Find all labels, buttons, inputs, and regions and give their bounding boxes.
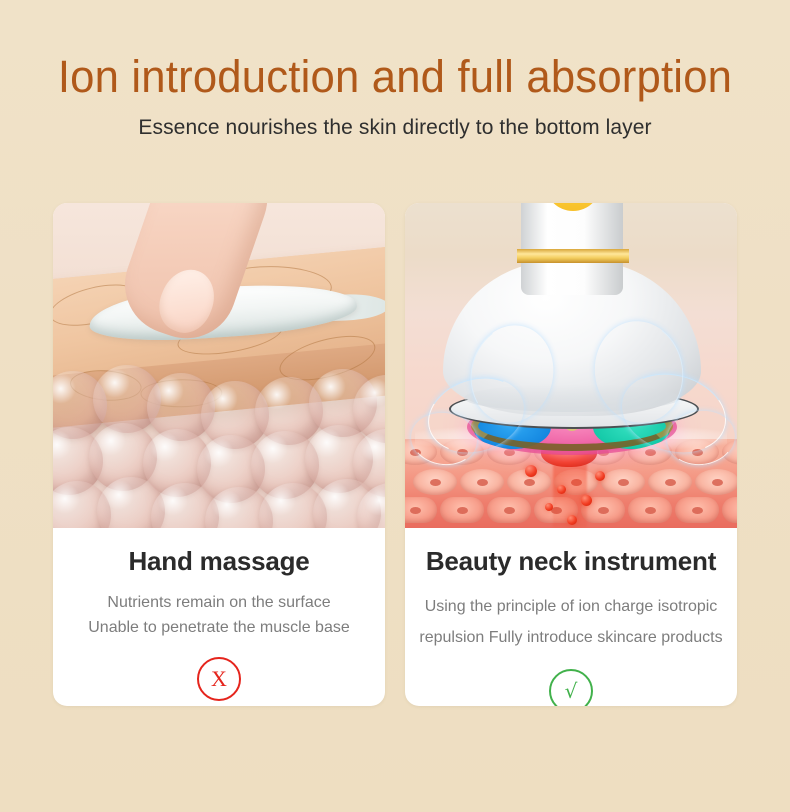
- skin-cell: [628, 497, 672, 523]
- skin-cell: [440, 497, 484, 523]
- page-subtitle: Essence nourishes the skin directly to t…: [0, 116, 790, 140]
- hand-massage-illustration: [53, 203, 385, 528]
- card-beauty-neck-instrument-body: Beauty neck instrument Using the princip…: [405, 528, 737, 706]
- skin-cell: [601, 469, 645, 495]
- skin-cell: [675, 497, 719, 523]
- skin-cell: [648, 469, 692, 495]
- check-icon: √: [549, 669, 593, 706]
- hand-massage-scene: [53, 203, 385, 528]
- beauty-device-illustration: [405, 203, 737, 528]
- beauty-device-scene: [405, 203, 737, 528]
- device-gold-band: [517, 249, 629, 263]
- skin-cell: [413, 469, 457, 495]
- essence-droplet: [581, 495, 592, 506]
- infographic-page: Ion introduction and full absorption Ess…: [0, 0, 790, 812]
- essence-droplet: [525, 465, 537, 477]
- skin-cell: [405, 497, 437, 523]
- skin-cell: [722, 497, 737, 523]
- cell-sphere-grid: [53, 371, 385, 528]
- card-hand-massage-body: Hand massage Nutrients remain on the sur…: [53, 528, 385, 706]
- essence-droplet: [567, 515, 577, 525]
- page-title: Ion introduction and full absorption: [12, 52, 778, 102]
- skin-cell: [695, 469, 737, 495]
- essence-droplet: [595, 471, 605, 481]
- card-title: Beauty neck instrument: [426, 546, 716, 577]
- skin-cell: [460, 469, 504, 495]
- card-title: Hand massage: [128, 546, 309, 577]
- card-description-line-2: Unable to penetrate the muscle base: [88, 616, 350, 641]
- card-hand-massage[interactable]: Hand massage Nutrients remain on the sur…: [53, 203, 385, 706]
- essence-droplet: [545, 503, 553, 511]
- card-description: Nutrients remain on the surface Unable t…: [88, 591, 350, 641]
- card-description: Using the principle of ion charge isotro…: [419, 591, 722, 653]
- header: Ion introduction and full absorption Ess…: [0, 52, 790, 140]
- comparison-cards: Hand massage Nutrients remain on the sur…: [53, 203, 737, 706]
- card-description-line-1: Using the principle of ion charge isotro…: [419, 591, 722, 622]
- cross-icon: X: [197, 657, 241, 701]
- card-description-line-1: Nutrients remain on the surface: [88, 591, 350, 616]
- card-description-line-2: repulsion Fully introduce skincare produ…: [419, 622, 722, 653]
- essence-droplet: [557, 485, 566, 494]
- card-beauty-neck-instrument[interactable]: Beauty neck instrument Using the princip…: [405, 203, 737, 706]
- skin-cell: [487, 497, 531, 523]
